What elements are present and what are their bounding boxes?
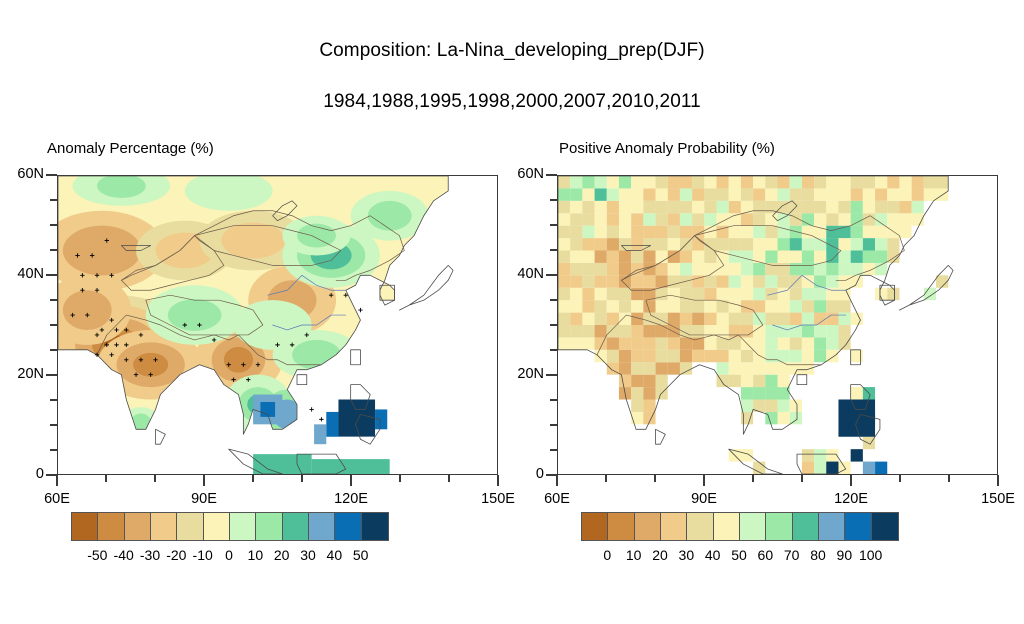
x-axis-label: 150E bbox=[977, 491, 1019, 507]
x-axis-label: 120E bbox=[330, 491, 372, 507]
x-axis-major-tick bbox=[703, 475, 704, 486]
colorbar-tick-label: 0 bbox=[225, 547, 233, 563]
y-axis-label: 40N bbox=[498, 266, 544, 282]
colorbar-swatch bbox=[687, 513, 713, 540]
colorbar-tick-label: 90 bbox=[837, 547, 853, 563]
right-colorbar bbox=[581, 512, 899, 541]
y-axis-label: 0 bbox=[0, 466, 44, 482]
y-axis-minor-tick bbox=[50, 324, 57, 325]
x-axis-minor-tick bbox=[801, 475, 802, 482]
y-axis-minor-tick bbox=[550, 424, 557, 425]
colorbar-tick-label: 60 bbox=[758, 547, 774, 563]
colorbar-swatch bbox=[256, 513, 282, 540]
y-axis-major-tick bbox=[546, 374, 557, 375]
y-axis-minor-tick bbox=[550, 324, 557, 325]
x-axis-minor-tick bbox=[899, 475, 900, 482]
colorbar-swatch bbox=[845, 513, 871, 540]
x-axis-label: 120E bbox=[830, 491, 872, 507]
x-axis-label: 150E bbox=[477, 491, 519, 507]
colorbar-swatch bbox=[766, 513, 792, 540]
map-canvas-right bbox=[558, 176, 997, 474]
x-axis-minor-tick bbox=[154, 475, 155, 482]
colorbar-swatch bbox=[309, 513, 335, 540]
y-axis-minor-tick bbox=[550, 399, 557, 400]
colorbar-swatch bbox=[283, 513, 309, 540]
y-axis-label: 60N bbox=[498, 166, 544, 182]
colorbar-tick-label: 70 bbox=[784, 547, 800, 563]
x-axis-minor-tick bbox=[605, 475, 606, 482]
panel-title-left: Anomaly Percentage (%) bbox=[47, 140, 214, 157]
colorbar-tick-label: -30 bbox=[140, 547, 160, 563]
figure-years: 1984,1988,1995,1998,2000,2007,2010,2011 bbox=[0, 91, 1024, 113]
map-frame-right bbox=[557, 175, 998, 475]
colorbar-tick-label: 50 bbox=[353, 547, 369, 563]
colorbar-tick-label: 30 bbox=[679, 547, 695, 563]
colorbar-tick-label: -10 bbox=[193, 547, 213, 563]
colorbar-swatch bbox=[98, 513, 124, 540]
colorbar-swatch bbox=[230, 513, 256, 540]
y-axis-minor-tick bbox=[550, 224, 557, 225]
colorbar-tick-label: -20 bbox=[166, 547, 186, 563]
x-axis-minor-tick bbox=[399, 475, 400, 482]
x-axis-label: 90E bbox=[683, 491, 725, 507]
colorbar-swatch bbox=[608, 513, 634, 540]
colorbar-tick-label: 100 bbox=[859, 547, 882, 563]
colorbar-tick-label: 20 bbox=[652, 547, 668, 563]
x-axis-label: 90E bbox=[183, 491, 225, 507]
colorbar-swatch bbox=[819, 513, 845, 540]
y-axis-minor-tick bbox=[550, 249, 557, 250]
y-axis-major-tick bbox=[546, 274, 557, 275]
colorbar-swatch bbox=[582, 513, 608, 540]
map-canvas-left bbox=[58, 176, 497, 474]
y-axis-minor-tick bbox=[550, 199, 557, 200]
x-axis-major-tick bbox=[56, 475, 57, 486]
colorbar-swatch bbox=[661, 513, 687, 540]
colorbar-tick-label: 10 bbox=[626, 547, 642, 563]
x-axis-minor-tick bbox=[948, 475, 949, 482]
x-axis-minor-tick bbox=[654, 475, 655, 482]
colorbar-tick-label: 0 bbox=[603, 547, 611, 563]
y-axis-label: 0 bbox=[498, 466, 544, 482]
colorbar-swatch bbox=[72, 513, 98, 540]
y-axis-minor-tick bbox=[50, 399, 57, 400]
figure-root: Composition: La-Nina_developing_prep(DJF… bbox=[0, 0, 1024, 624]
x-axis-minor-tick bbox=[105, 475, 106, 482]
y-axis-minor-tick bbox=[50, 224, 57, 225]
y-axis-major-tick bbox=[46, 174, 57, 175]
colorbar-tick-label: -50 bbox=[87, 547, 107, 563]
figure-title: Composition: La-Nina_developing_prep(DJF… bbox=[0, 40, 1024, 62]
colorbar-swatch bbox=[714, 513, 740, 540]
colorbar-tick-label: 20 bbox=[274, 547, 290, 563]
x-axis-minor-tick bbox=[252, 475, 253, 482]
y-axis-minor-tick bbox=[550, 349, 557, 350]
y-axis-major-tick bbox=[46, 274, 57, 275]
x-axis-minor-tick bbox=[448, 475, 449, 482]
colorbar-swatch bbox=[125, 513, 151, 540]
x-axis-label: 60E bbox=[536, 491, 578, 507]
colorbar-tick-label: 30 bbox=[300, 547, 316, 563]
left-colorbar bbox=[71, 512, 389, 541]
colorbar-swatch bbox=[204, 513, 230, 540]
y-axis-minor-tick bbox=[50, 424, 57, 425]
y-axis-major-tick bbox=[46, 374, 57, 375]
colorbar-swatch bbox=[872, 513, 898, 540]
y-axis-major-tick bbox=[546, 174, 557, 175]
y-axis-minor-tick bbox=[50, 249, 57, 250]
colorbar-swatch bbox=[177, 513, 203, 540]
x-axis-major-tick bbox=[997, 475, 998, 486]
map-frame-left bbox=[57, 175, 498, 475]
y-axis-minor-tick bbox=[550, 449, 557, 450]
colorbar-tick-label: 40 bbox=[705, 547, 721, 563]
x-axis-major-tick bbox=[350, 475, 351, 486]
y-axis-label: 20N bbox=[498, 366, 544, 382]
colorbar-tick-label: 80 bbox=[810, 547, 826, 563]
x-axis-major-tick bbox=[203, 475, 204, 486]
panel-title-right: Positive Anomaly Probability (%) bbox=[559, 140, 775, 157]
colorbar-tick-label: 50 bbox=[731, 547, 747, 563]
colorbar-swatch bbox=[793, 513, 819, 540]
colorbar-swatch bbox=[151, 513, 177, 540]
y-axis-minor-tick bbox=[50, 299, 57, 300]
x-axis-minor-tick bbox=[301, 475, 302, 482]
x-axis-minor-tick bbox=[752, 475, 753, 482]
x-axis-label: 60E bbox=[36, 491, 78, 507]
colorbar-swatch bbox=[635, 513, 661, 540]
y-axis-minor-tick bbox=[50, 349, 57, 350]
x-axis-major-tick bbox=[556, 475, 557, 486]
y-axis-minor-tick bbox=[50, 449, 57, 450]
y-axis-label: 60N bbox=[0, 166, 44, 182]
colorbar-swatch bbox=[740, 513, 766, 540]
colorbar-swatch bbox=[335, 513, 361, 540]
colorbar-tick-label: -40 bbox=[114, 547, 134, 563]
y-axis-label: 40N bbox=[0, 266, 44, 282]
colorbar-tick-label: 40 bbox=[327, 547, 343, 563]
y-axis-label: 20N bbox=[0, 366, 44, 382]
colorbar-swatch bbox=[362, 513, 388, 540]
y-axis-minor-tick bbox=[550, 299, 557, 300]
x-axis-major-tick bbox=[850, 475, 851, 486]
colorbar-tick-label: 10 bbox=[248, 547, 264, 563]
y-axis-minor-tick bbox=[50, 199, 57, 200]
